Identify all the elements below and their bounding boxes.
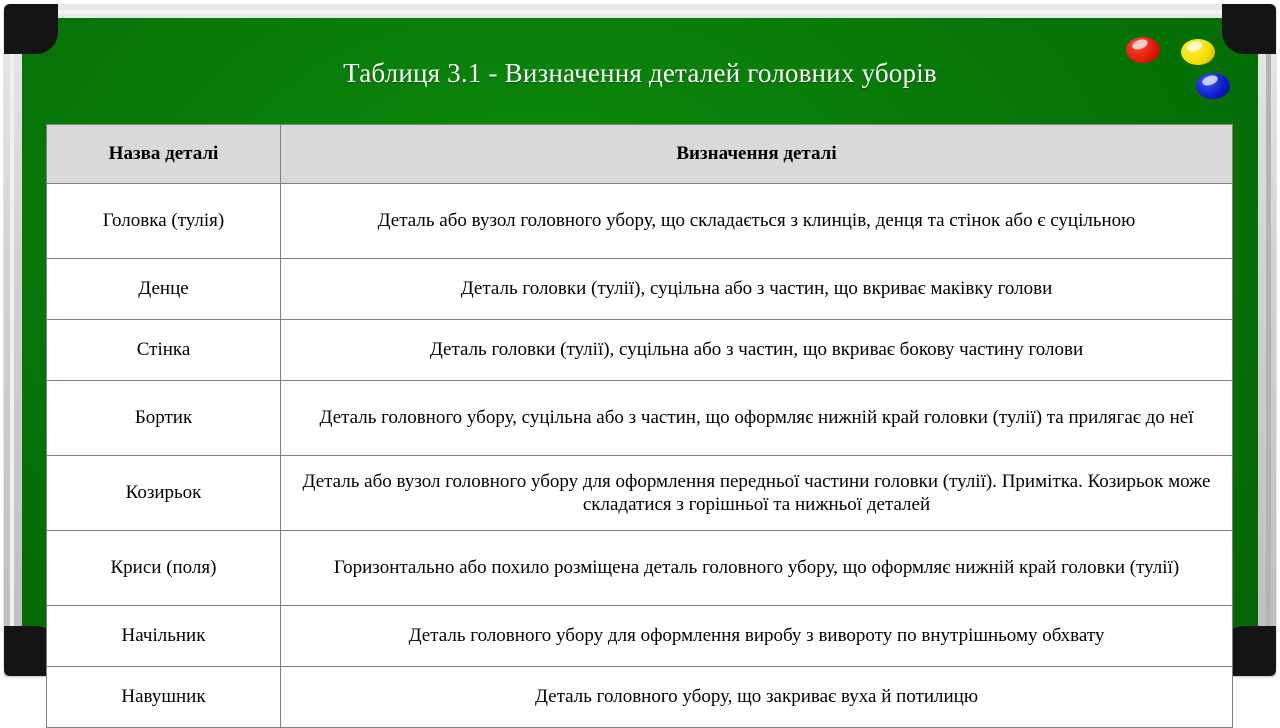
cell-part-name: Криси (поля) [47, 531, 281, 606]
cell-part-name: Начільник [47, 606, 281, 667]
cell-part-definition: Деталь або вузол головного убору для офо… [281, 456, 1233, 531]
cell-part-definition: Деталь головного убору, що закриває вуха… [281, 667, 1233, 728]
table-row: Головка (тулія) Деталь або вузол головно… [47, 184, 1233, 259]
cell-part-definition: Деталь головки (тулії), суцільна або з ч… [281, 320, 1233, 381]
cell-part-name: Головка (тулія) [47, 184, 281, 259]
table-row: Денце Деталь головки (тулії), суцільна а… [47, 259, 1233, 320]
cell-part-name: Стінка [47, 320, 281, 381]
table-header-row: Назва деталі Визначення деталі [47, 125, 1233, 184]
details-table: Назва деталі Визначення деталі Головка (… [46, 124, 1233, 728]
table-container: Назва деталі Визначення деталі Головка (… [46, 124, 1232, 728]
corner-bracket-top-left [4, 4, 58, 54]
table-body: Головка (тулія) Деталь або вузол головно… [47, 184, 1233, 728]
column-header-name: Назва деталі [47, 125, 281, 184]
cell-part-name: Денце [47, 259, 281, 320]
cell-part-name: Бортик [47, 381, 281, 456]
slide-canvas: Таблиця 3.1 - Визначення деталей головни… [0, 0, 1280, 720]
cell-part-definition: Деталь головного убору, суцільна або з ч… [281, 381, 1233, 456]
table-row: Бортик Деталь головного убору, суцільна … [47, 381, 1233, 456]
table-row: Стінка Деталь головки (тулії), суцільна … [47, 320, 1233, 381]
table-row: Начільник Деталь головного убору для офо… [47, 606, 1233, 667]
table-row: Криси (поля) Горизонтально або похило ро… [47, 531, 1233, 606]
column-header-definition: Визначення деталі [281, 125, 1233, 184]
page-title: Таблиця 3.1 - Визначення деталей головни… [0, 58, 1280, 89]
cell-part-definition: Горизонтально або похило розміщена детал… [281, 531, 1233, 606]
cell-part-definition: Деталь або вузол головного убору, що скл… [281, 184, 1233, 259]
table-row: Навушник Деталь головного убору, що закр… [47, 667, 1233, 728]
frame-highlight-left [10, 14, 14, 664]
frame-highlight-top [14, 10, 1266, 14]
table-head: Назва деталі Визначення деталі [47, 125, 1233, 184]
cell-part-name: Навушник [47, 667, 281, 728]
cell-part-definition: Деталь головного убору для оформлення ви… [281, 606, 1233, 667]
frame-shadow-right [1266, 14, 1271, 664]
corner-bracket-top-right [1222, 4, 1276, 54]
cell-part-name: Козирьок [47, 456, 281, 531]
table-row: Козирьок Деталь або вузол головного убор… [47, 456, 1233, 531]
cell-part-definition: Деталь головки (тулії), суцільна або з ч… [281, 259, 1233, 320]
